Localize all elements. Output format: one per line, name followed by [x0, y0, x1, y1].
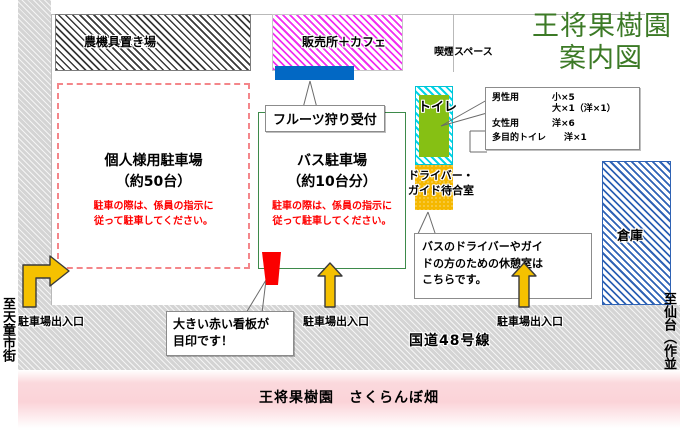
- toilet-info-label: 男性用: [492, 93, 552, 116]
- toilet-info-value: 洋×1: [564, 133, 587, 144]
- entrance-arrow-left: [17, 250, 77, 308]
- callout-driver-note-3: こちらです。: [422, 272, 584, 289]
- entrance-label-right: 駐車場出入口: [497, 313, 563, 329]
- red-sign-icon: [260, 252, 284, 286]
- callout-fruit-picking-reception: フルーツ狩り受付: [265, 105, 385, 132]
- toilet-info-row: 男性用 小×5 大×1（洋×1）: [492, 93, 633, 116]
- callout-toilet-info: 男性用 小×5 大×1（洋×1） 女性用 洋×6 多目的トイレ 洋×1: [485, 87, 640, 150]
- cherry-field-band: 王将果樹園 さくらんぼ畑: [18, 370, 680, 428]
- callout-fruit-picking-reception-text: フルーツ狩り受付: [273, 113, 377, 128]
- facility-map: 農機具置き場 販売所＋カフェ 喫煙スペース トイレ ドライバー・ ガイド待合室 …: [0, 0, 680, 428]
- toilet-info-value-1: 小×5: [552, 93, 616, 104]
- private-parking-note-2: 従って駐車してください。: [57, 215, 250, 230]
- area-warehouse-label: 倉庫: [617, 225, 643, 244]
- entrance-arrow-right: [511, 262, 537, 308]
- area-equipment-shed-label: 農機具置き場: [84, 33, 156, 50]
- area-driver-room-label-2: ガイド待合室: [408, 182, 474, 198]
- area-driver-room-label-1: ドライバー・: [408, 167, 474, 183]
- bus-parking-note-2: 従って駐車してください。: [258, 215, 406, 230]
- smoking-space-divider: [453, 14, 454, 72]
- private-parking-name: 個人様用駐車場: [57, 150, 250, 170]
- area-smoking-space-label: 喫煙スペース: [434, 43, 493, 58]
- callout-driver-note-2: ドの方のための休憩室は: [422, 256, 584, 273]
- bus-parking-texts: バス駐車場 （約10台分） 駐車の際は、係員の指示に 従って駐車してください。: [258, 150, 406, 229]
- toilet-info-label: 女性用: [492, 119, 552, 130]
- private-parking-texts: 個人様用駐車場 （約50台） 駐車の際は、係員の指示に 従って駐車してください。: [57, 150, 250, 229]
- private-parking-capacity: （約50台）: [57, 171, 250, 191]
- callout-red-sign-1: 大きい赤い看板が: [173, 316, 287, 333]
- toilet-info-row: 多目的トイレ 洋×1: [492, 133, 633, 144]
- cherry-field-label: 王将果樹園 さくらんぼ畑: [18, 387, 680, 407]
- bus-parking-note-1: 駐車の際は、係員の指示に: [258, 200, 406, 215]
- callout-driver-note: バスのドライバーやガイ ドの方のための休憩室は こちらです。: [414, 233, 592, 299]
- main-road-label: 国道48号線: [409, 330, 490, 350]
- page-title-line2: 案内図: [559, 44, 643, 73]
- private-parking-note-1: 駐車の際は、係員の指示に: [57, 200, 250, 215]
- callout-driver-note-1: バスのドライバーやガイ: [422, 239, 584, 256]
- callout-red-sign: 大きい赤い看板が 目印です！: [166, 311, 294, 356]
- toilet-info-value: 洋×6: [552, 119, 575, 130]
- entrance-arrow-center: [317, 262, 343, 308]
- entrance-label-left: 駐車場出入口: [18, 313, 84, 329]
- entrance-label-center: 駐車場出入口: [303, 313, 369, 329]
- area-toilet-label: トイレ: [418, 96, 457, 115]
- toilet-info-label: 多目的トイレ: [492, 133, 564, 144]
- area-shop-cafe-label: 販売所＋カフェ: [302, 33, 386, 50]
- toilet-info-row: 女性用 洋×6: [492, 119, 633, 130]
- callout-red-sign-2: 目印です！: [173, 333, 287, 350]
- bus-parking-name: バス駐車場: [258, 150, 406, 170]
- page-title-line1: 王将果樹園: [532, 12, 672, 41]
- fruit-picking-reception-marker: [275, 66, 354, 80]
- direction-left-label: 至天童市街: [1, 297, 14, 362]
- toilet-info-value-2: 大×1（洋×1）: [552, 104, 616, 115]
- bus-parking-capacity: （約10台分）: [258, 171, 406, 191]
- toilet-info-value: 小×5 大×1（洋×1）: [552, 93, 616, 116]
